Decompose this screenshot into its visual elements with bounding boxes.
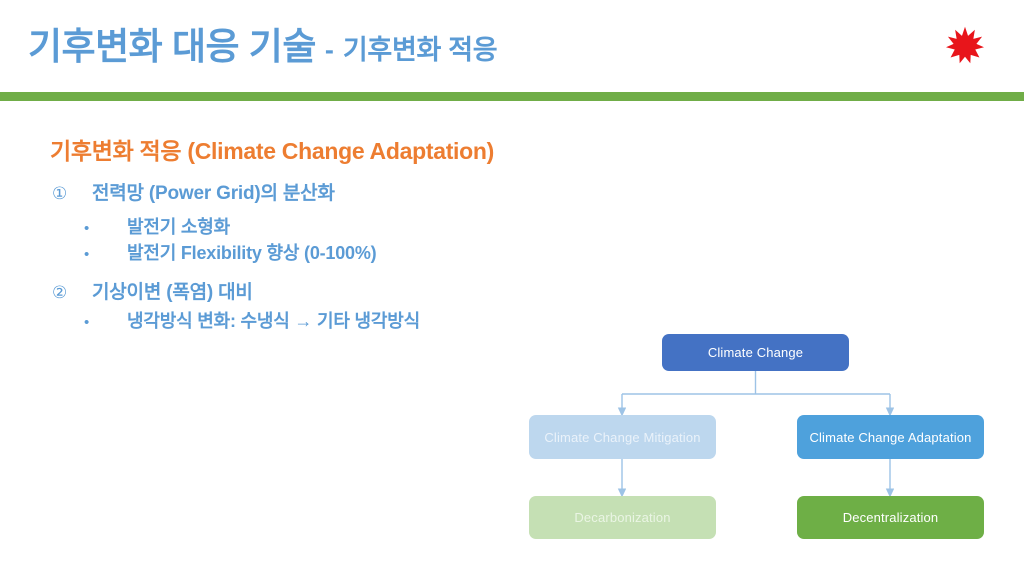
diagram-node-climate-change[interactable]: Climate Change: [662, 334, 849, 371]
list-item-2a-label: 냉각방식 변화: 수냉식 → 기타 냉각방식: [127, 307, 420, 333]
list-item-2a: • 냉각방식 변화: 수냉식 → 기타 냉각방식: [84, 307, 420, 333]
list-item-1-marker: ①: [52, 184, 92, 204]
diagram-node-decentralization[interactable]: Decentralization: [797, 496, 984, 539]
list-item-1a-label: 발전기 소형화: [127, 213, 230, 239]
list-item-1: ① 전력망 (Power Grid)의 분산화: [52, 178, 335, 205]
list-item-1b: • 발전기 Flexibility 향상 (0-100%): [84, 239, 376, 265]
page-title: 기후변화 대응 기술 - 기후변화 적응: [28, 16, 497, 70]
list-item-1a: • 발전기 소형화: [84, 213, 230, 239]
page-title-main: 기후변화 대응 기술: [28, 16, 316, 70]
list-item-2a-bullet-icon: •: [84, 314, 127, 331]
list-item-1b-label: 발전기 Flexibility 향상 (0-100%): [127, 239, 376, 265]
page-title-subtitle: 기후변화 적응: [343, 28, 497, 67]
diagram-node-climate-change-adaptation[interactable]: Climate Change Adaptation: [797, 415, 984, 459]
diagram-node-decarbonization[interactable]: Decarbonization: [529, 496, 716, 539]
section-heading: 기후변화 적응 (Climate Change Adaptation): [50, 132, 494, 166]
list-item-1b-bullet-icon: •: [84, 246, 127, 263]
slide-header: 기후변화 대응 기술 - 기후변화 적응: [0, 0, 1024, 100]
list-item-2-marker: ②: [52, 283, 92, 303]
list-item-2-label: 기상이변 (폭염) 대비: [92, 277, 253, 304]
slide: 기후변화 대응 기술 - 기후변화 적응 기후변화 적응 (Climate Ch…: [0, 0, 1024, 576]
page-title-separator: -: [325, 35, 334, 66]
diagram-node-climate-change-mitigation[interactable]: Climate Change Mitigation: [529, 415, 716, 459]
list-item-1-label: 전력망 (Power Grid)의 분산화: [92, 178, 335, 205]
red-starburst-icon: [946, 26, 984, 64]
list-item-1a-bullet-icon: •: [84, 220, 127, 237]
list-item-2: ② 기상이변 (폭염) 대비: [52, 277, 253, 304]
